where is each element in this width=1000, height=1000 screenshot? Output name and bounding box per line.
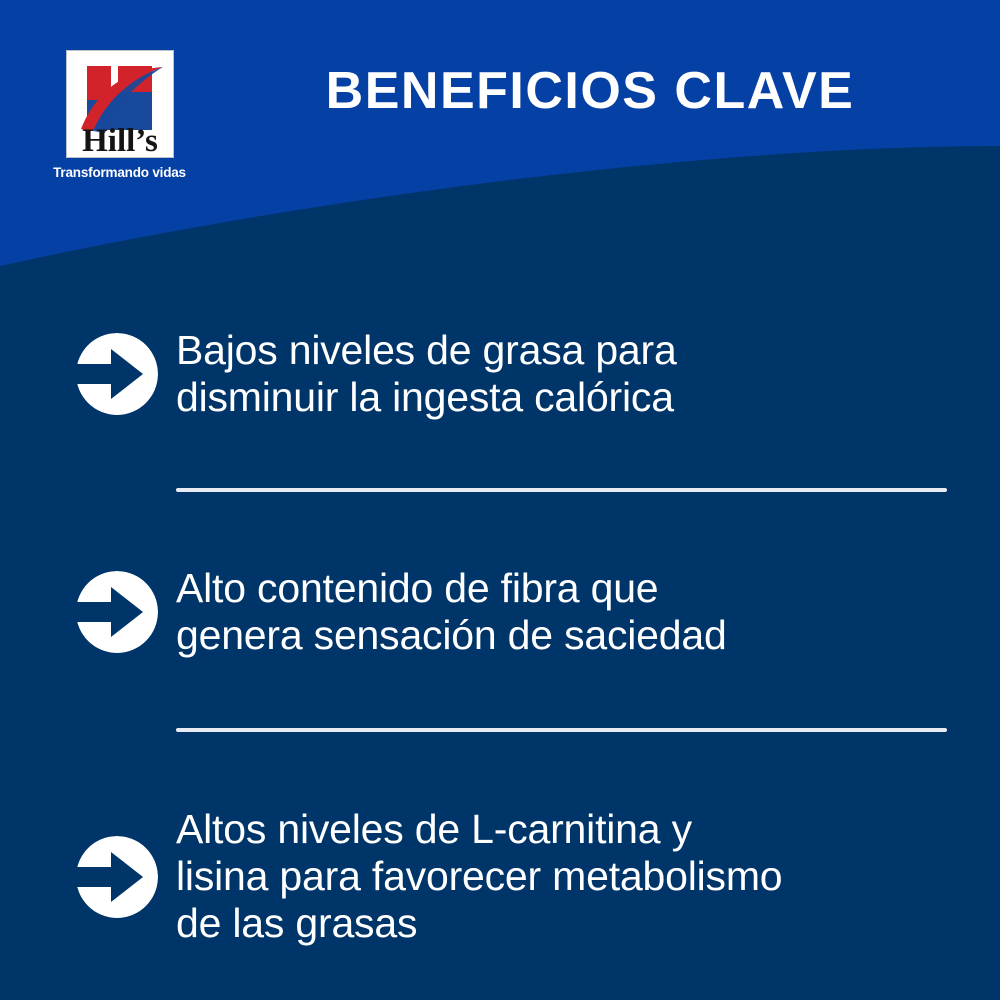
benefit-text-3: Altos niveles de L-carnitina y lisina pa… [176, 806, 1000, 947]
benefit-item-3: Altos niveles de L-carnitina y lisina pa… [0, 774, 1000, 979]
page-title: BENEFICIOS CLAVE [210, 62, 970, 120]
benefit-divider-1 [176, 488, 947, 492]
benefit-item-1: Bajos niveles de grasa para disminuir la… [0, 298, 1000, 450]
benefits-list: Bajos niveles de grasa para disminuir la… [0, 280, 1000, 979]
hills-logo-icon: Hill’s [66, 50, 174, 158]
benefit-divider-2 [176, 728, 947, 732]
arrow-right-circle-icon [72, 331, 158, 417]
benefit-item-2: Alto contenido de fibra que genera sensa… [0, 536, 1000, 688]
benefit-text-2: Alto contenido de fibra que genera sensa… [176, 565, 1000, 659]
brand-logo-block: Hill’s Transformando vidas [47, 50, 192, 180]
brand-tagline: Transformando vidas [47, 165, 192, 180]
arrow-right-circle-icon [72, 569, 158, 655]
benefit-text-1: Bajos niveles de grasa para disminuir la… [176, 327, 1000, 421]
arrow-right-circle-icon [72, 834, 158, 920]
hills-wordmark: Hill’s [82, 123, 158, 157]
poster-canvas: Hill’s Transformando vidas BENEFICIOS CL… [0, 0, 1000, 1000]
